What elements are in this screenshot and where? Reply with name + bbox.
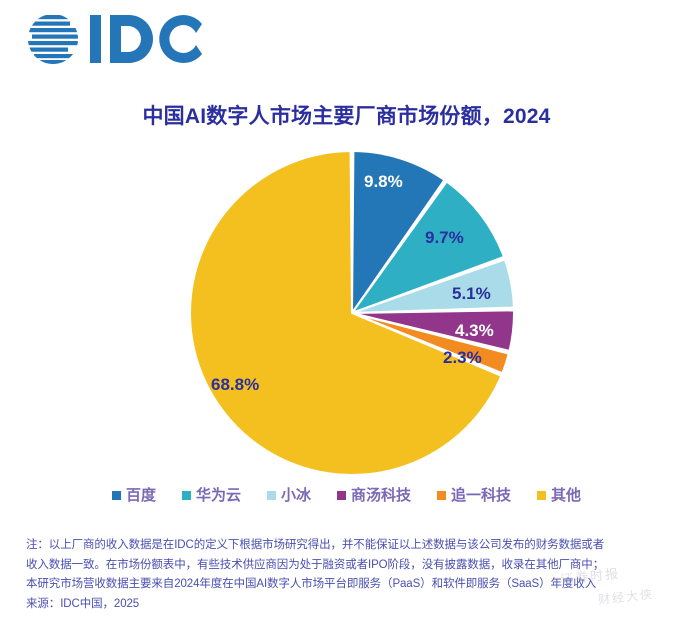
slice-label-others: 68.8% (211, 375, 259, 395)
legend-swatch-icon (267, 491, 276, 500)
pie-chart-svg (176, 140, 528, 476)
footnote-source: 来源：IDC中国，2025 (26, 595, 676, 615)
legend-item-label: 百度 (126, 488, 156, 503)
slice-label-sensetime: 4.3% (455, 321, 494, 341)
legend-item-1[interactable]: 华为云 (182, 488, 241, 503)
legend-swatch-icon (337, 491, 346, 500)
legend-item-label: 小冰 (281, 488, 311, 503)
pie-chart (176, 140, 528, 476)
idc-logo-svg (24, 10, 224, 68)
footnote-line-1: 注：以上厂商的收入数据是在IDC的定义下根据市场研究得出，并不能保证以上述数据与… (26, 536, 676, 556)
logo-letter-i (90, 15, 101, 63)
legend-item-2[interactable]: 小冰 (267, 488, 311, 503)
legend-item-label: 华为云 (196, 488, 241, 503)
slice-label-baidu: 9.8% (364, 172, 403, 192)
legend-item-label: 其他 (551, 488, 581, 503)
legend-item-label: 追一科技 (451, 488, 511, 503)
idc-globe-icon (24, 15, 82, 64)
legend-swatch-icon (437, 491, 446, 500)
legend-swatch-icon (182, 491, 191, 500)
legend-item-label: 商汤科技 (351, 488, 411, 503)
legend-item-0[interactable]: 百度 (112, 488, 156, 503)
legend-item-5[interactable]: 其他 (537, 488, 581, 503)
logo-letter-c (159, 15, 202, 63)
slice-label-huaweicloud: 9.7% (425, 228, 464, 248)
slice-label-zhuiyi: 2.3% (443, 348, 482, 368)
chart-title: 中国AI数字人市场主要厂商市场份额，2024 (0, 100, 693, 130)
slice-label-xiaoice: 5.1% (452, 284, 491, 304)
footnote-line-3: 本研究市场营收数据主要来自2024年度在中国AI数字人市场平台即服务（PaaS）… (26, 575, 676, 595)
footnote: 注：以上厂商的收入数据是在IDC的定义下根据市场研究得出，并不能保证以上述数据与… (26, 536, 676, 614)
legend-swatch-icon (112, 491, 121, 500)
footnote-line-2: 收入数据一致。在市场份额表中，有些技术供应商因为处于融资或者IPO阶段，没有披露… (26, 556, 676, 576)
chart-legend: 百度华为云小冰商汤科技追一科技其他 (0, 488, 693, 503)
legend-swatch-icon (537, 491, 546, 500)
legend-item-3[interactable]: 商汤科技 (337, 488, 411, 503)
chart-page: 中国AI数字人市场主要厂商市场份额，2024 9.8% 9.7% 5.1% 4.… (0, 0, 693, 635)
legend-item-4[interactable]: 追一科技 (437, 488, 511, 503)
idc-logo (24, 10, 224, 68)
logo-letter-d (110, 15, 153, 63)
